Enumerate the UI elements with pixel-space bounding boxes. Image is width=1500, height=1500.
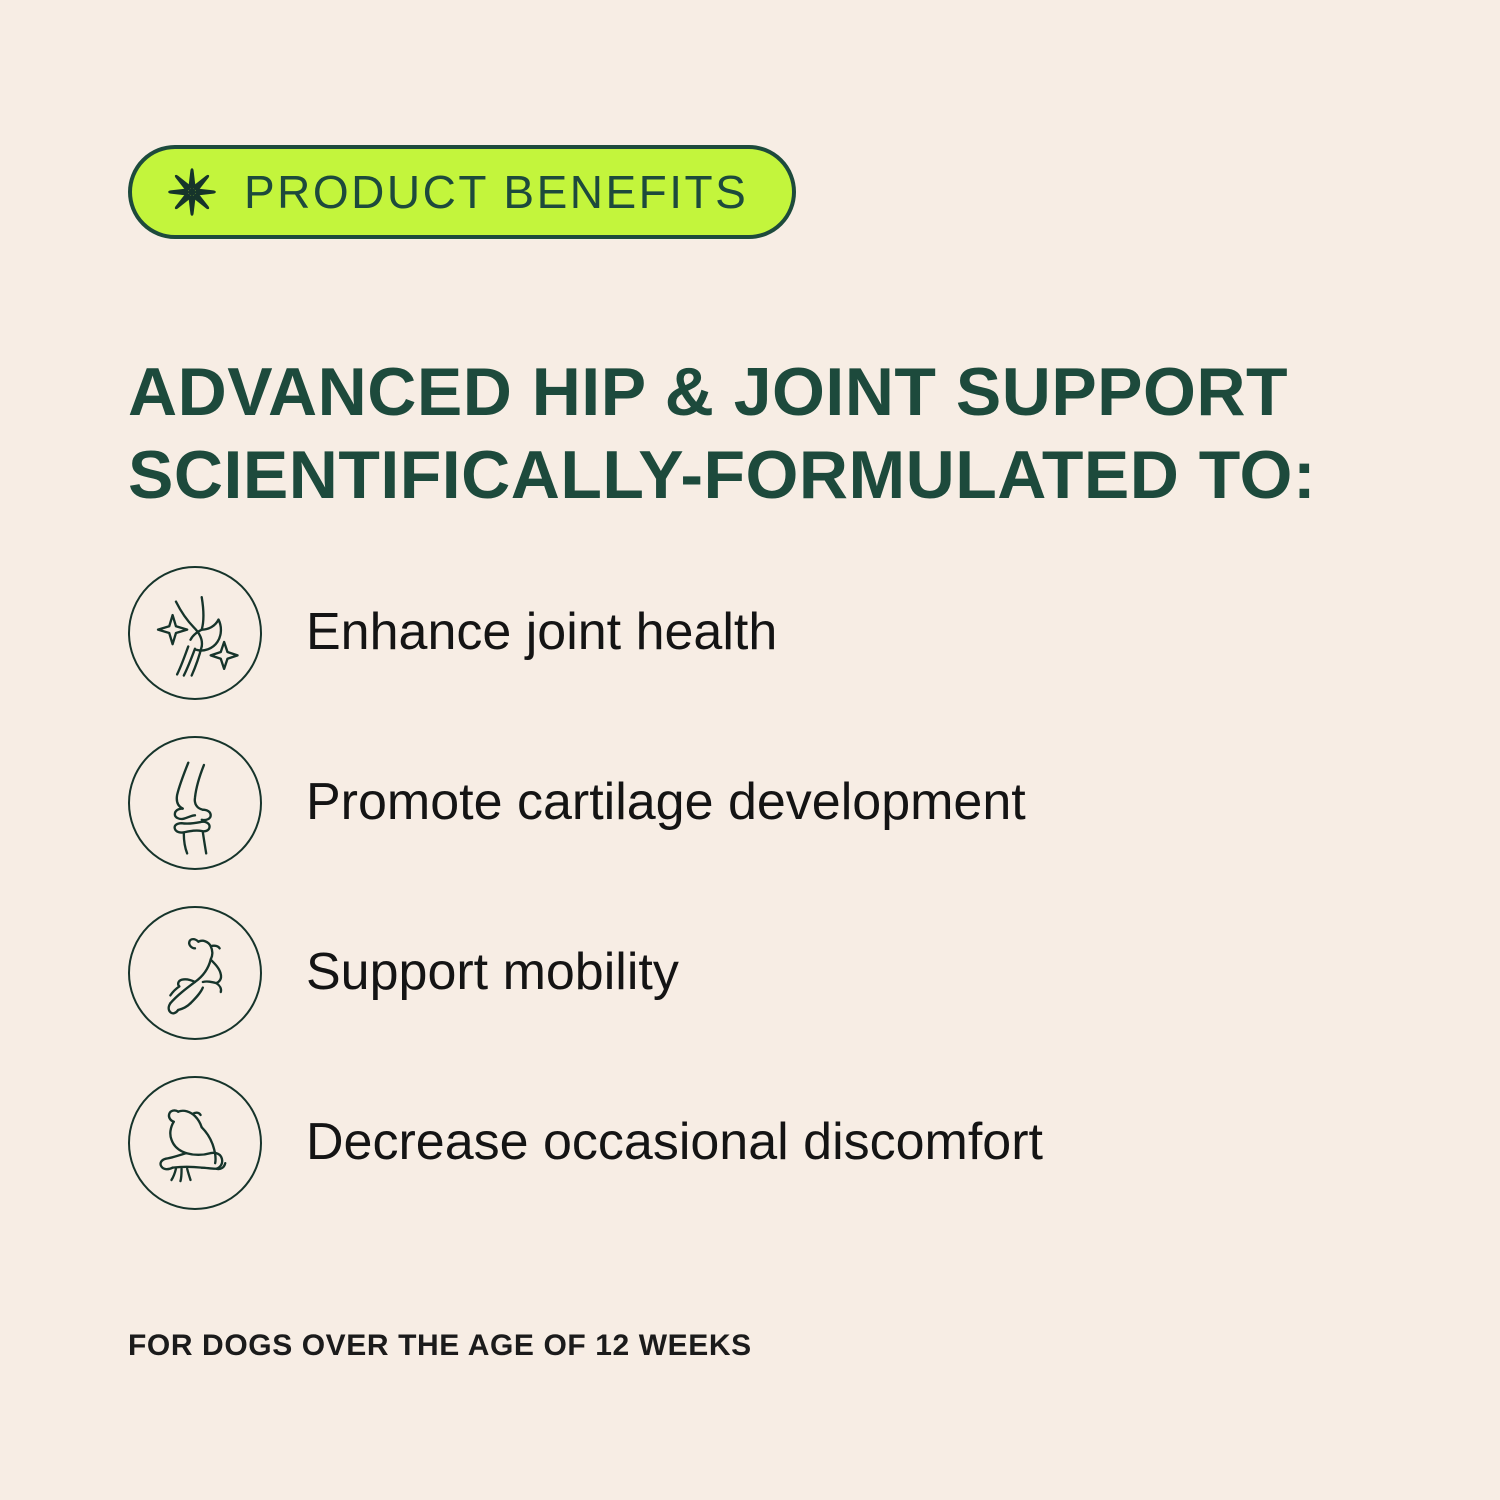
asterisk-icon [166,166,218,218]
benefit-label: Support mobility [306,944,679,1001]
age-disclaimer: FOR DOGS OVER THE AGE OF 12 WEEKS [128,1329,752,1363]
page-title: ADVANCED HIP & JOINT SUPPORT SCIENTIFICA… [128,351,1388,517]
benefit-row: Decrease occasional discomfort [128,1076,1378,1210]
headline-line-2: SCIENTIFICALLY-FORMULATED TO: [128,434,1388,517]
joint-sparkle-icon [128,566,262,700]
benefit-label: Enhance joint health [306,604,777,661]
headline-line-1: ADVANCED HIP & JOINT SUPPORT [128,351,1388,434]
benefit-row: Support mobility [128,906,1378,1040]
product-benefits-panel: PRODUCT BENEFITS ADVANCED HIP & JOINT SU… [0,0,1500,1500]
product-benefits-badge: PRODUCT BENEFITS [128,145,796,239]
benefit-row: Promote cartilage development [128,736,1378,870]
benefit-label: Promote cartilage development [306,774,1026,831]
dog-resting-icon [128,1076,262,1210]
benefits-list: Enhance joint health Promote cartilage d… [128,566,1378,1246]
dog-leaping-icon [128,906,262,1040]
benefit-row: Enhance joint health [128,566,1378,700]
badge-label: PRODUCT BENEFITS [244,169,748,215]
joint-cartilage-icon [128,736,262,870]
benefit-label: Decrease occasional discomfort [306,1114,1043,1171]
